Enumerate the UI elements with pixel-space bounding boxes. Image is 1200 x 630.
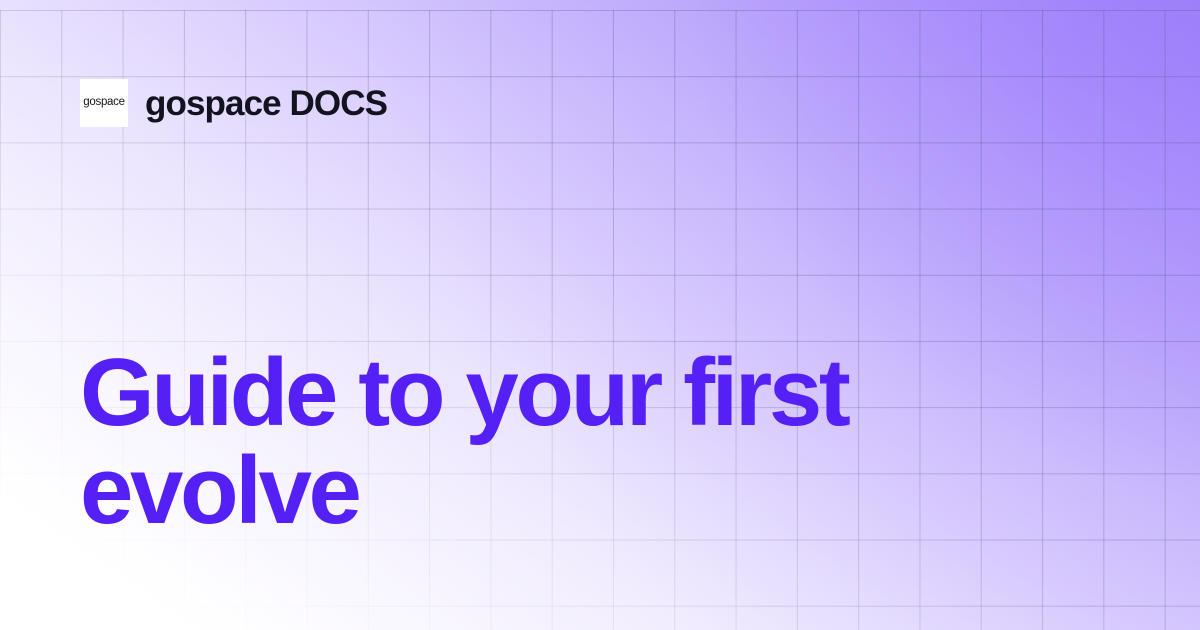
gospace-logo-mark: gospace: [80, 79, 128, 127]
og-card: gospace gospace DOCS Guide to your first…: [0, 0, 1200, 630]
brand-header: gospace gospace DOCS: [80, 79, 387, 127]
page-title: Guide to your first evolve: [80, 344, 980, 540]
brand-title: gospace DOCS: [145, 86, 387, 121]
logo-mark-label: gospace: [83, 97, 124, 109]
